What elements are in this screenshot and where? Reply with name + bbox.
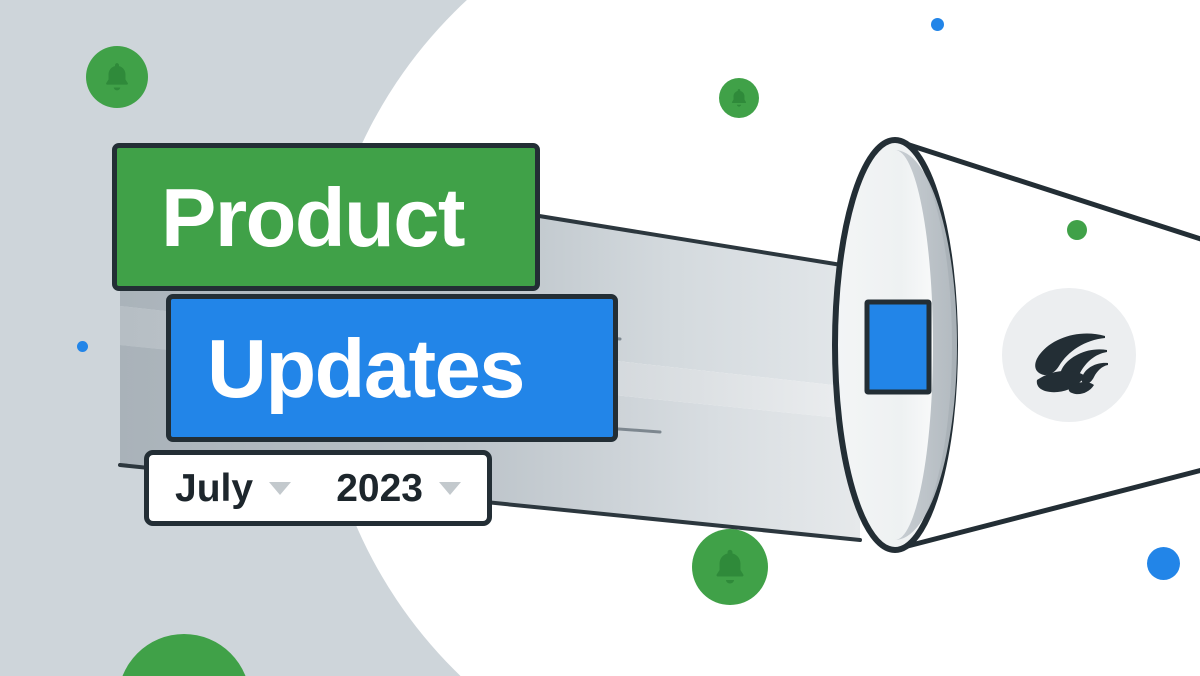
bell-icon	[100, 60, 134, 94]
brand-logo-disc	[1002, 288, 1136, 422]
bell-icon	[709, 546, 751, 588]
date-selector-card[interactable]: July 2023	[144, 450, 492, 526]
year-select[interactable]: 2023	[336, 469, 461, 508]
title-card-updates: Updates	[166, 294, 618, 442]
month-select[interactable]: July	[175, 469, 291, 508]
title-card-product: Product	[112, 143, 540, 291]
page-title-line-1: Product	[161, 176, 464, 259]
dot-green-on-line	[1067, 220, 1087, 240]
bell-badge-bottom-center	[692, 529, 768, 605]
brand-logo-swoosh	[1023, 309, 1115, 401]
bell-badge-top-center	[719, 78, 759, 118]
dot-blue-left	[77, 341, 88, 352]
bell-badge-top-left	[86, 46, 148, 108]
chevron-down-icon[interactable]	[269, 482, 291, 495]
month-value: July	[175, 469, 253, 508]
year-value: 2023	[336, 469, 423, 508]
dot-blue-top	[931, 18, 944, 31]
product-updates-banner: Product Updates July 2023	[0, 0, 1200, 676]
page-title-line-2: Updates	[207, 327, 524, 410]
bell-icon	[728, 87, 750, 109]
chevron-down-icon[interactable]	[439, 482, 461, 495]
